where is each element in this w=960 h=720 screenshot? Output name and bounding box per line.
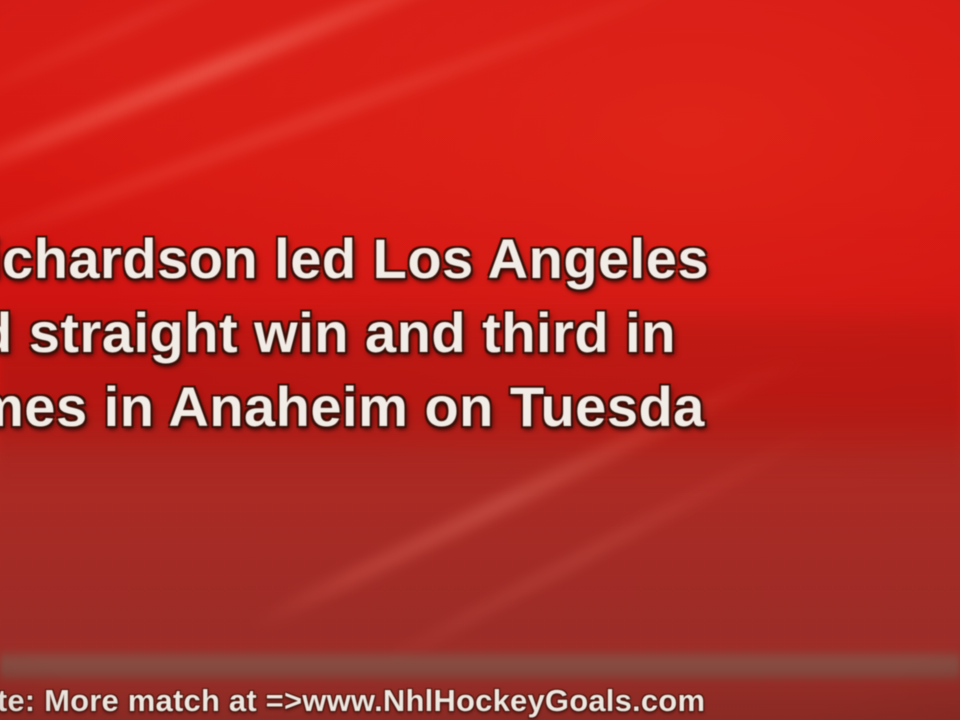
caption-line-3: mes in Anaheim on Tuesda [0,370,960,444]
video-caption-overlay: ichardson led Los Angeles d straight win… [0,222,960,444]
site-watermark: ite: More match at =>www.NhlHockeyGoals.… [0,684,960,718]
caption-line-1: ichardson led Los Angeles [0,222,960,296]
video-frame: ichardson led Los Angeles d straight win… [0,0,960,720]
caption-line-2: d straight win and third in [0,296,960,370]
